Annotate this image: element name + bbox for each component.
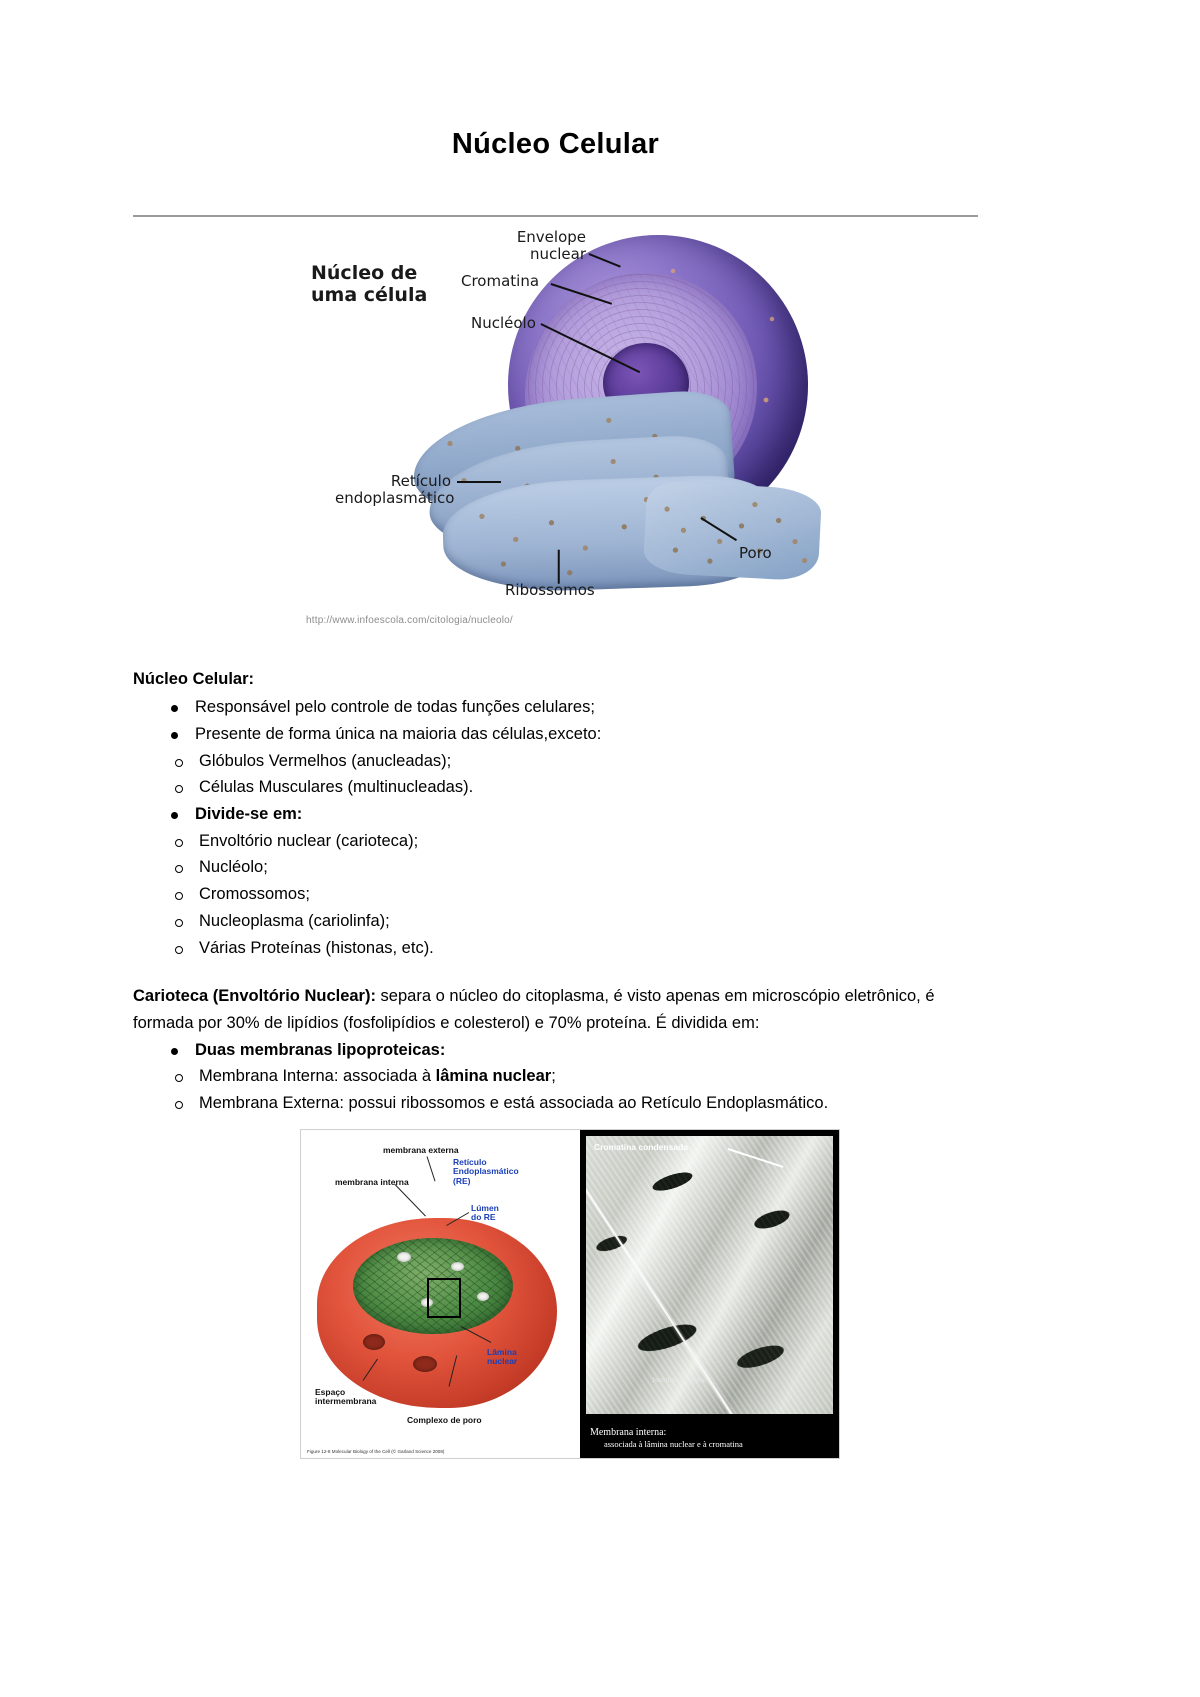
figure2-leader-membrana-externa [427,1156,436,1181]
list-item-duas-membranas: Duas membranas lipoproteicas: [195,1037,978,1064]
figure1-leader-reticulo [457,481,501,483]
list-item: Nucléolo; [199,854,978,881]
sublist-membranas: Membrana Interna: associada à lâmina nuc… [133,1063,978,1116]
micrograph-label-intestino: Intestino de anfíbio [652,1376,706,1384]
er-flap [643,481,823,582]
figure2-label-reticulo-endoplasmatico: Retículo Endoplasmático (RE) [453,1158,519,1187]
figure2-diagram-panel: membrana externa membrana interna Retícu… [301,1130,580,1458]
list-item: Nucleoplasma (cariolinfa); [199,908,978,935]
figure2-label-membrana-externa: membrana externa [383,1146,459,1156]
bullet-list-nucleo: Responsável pelo controle de todas funçõ… [133,694,978,747]
figure2-source-note: Figure 12-8 Molecular Biology of the Cel… [307,1449,444,1454]
ribosome-dots-4 [643,481,823,582]
figure1-leader-ribossomos [558,550,560,584]
figure2-label-lumen-do-re: Lúmen do RE [471,1204,499,1223]
micrograph-caption-line2: associada à lâmina nuclear e à cromatina [590,1439,743,1450]
pore-hole-1 [397,1252,411,1262]
document-page: Núcleo Celular Núcleo de uma célula [0,0,1200,1697]
pore-hole-4 [477,1292,489,1301]
figure2-label-complexo-de-poro: Complexo de poro [407,1416,482,1426]
list-item-divide-se-em: Divide-se em: [195,801,978,828]
membrana-interna-suffix: ; [551,1067,556,1085]
title-divider [133,215,978,217]
section-heading-nucleo-celular: Núcleo Celular: [133,667,978,692]
list-item: Presente de forma única na maioria das c… [195,721,978,748]
membrane-opening-2 [413,1356,437,1372]
list-item: Células Musculares (multinucleadas). [199,774,978,801]
figure2-micrograph-panel: Cromatina condensada Intestino de anfíbi… [580,1130,839,1458]
bullet-duas-membranas: Duas membranas lipoproteicas: [133,1037,978,1064]
list-item: Cromossomos; [199,881,978,908]
figure1-label-reticulo: Retículo endoplasmático [335,473,451,505]
bullet-divide-se-em: Divide-se em: [133,801,978,828]
zoom-region-box [427,1278,461,1318]
list-item: Glóbulos Vermelhos (anucleadas); [199,748,978,775]
micrograph-caption-line1: Membrana interna: [590,1427,743,1440]
figure1-label-poro: Poro [739,545,772,561]
figure-nucleo-celular: Núcleo de uma célula Envelope nuclear Cr… [133,227,978,667]
figure1-label-nucleolo: Nucléolo [471,315,536,331]
page-title: Núcleo Celular [133,0,978,161]
micrograph-label-cromatina-condensada: Cromatina condensada [594,1142,688,1152]
figure1-label-cromatina: Cromatina [461,273,539,289]
pore-hole-2 [451,1262,464,1271]
list-item: Envoltório nuclear (carioteca); [199,828,978,855]
figure1-label-ribossomos: Ribossomos [505,582,595,598]
spacer [133,961,978,983]
figure1-credit: http://www.infoescola.com/citologia/nucl… [306,615,513,626]
lamina-nuclear-bold: lâmina nuclear [436,1067,552,1085]
figure1-canvas: Núcleo de uma célula Envelope nuclear Cr… [293,227,833,642]
membrane-opening-1 [363,1334,385,1350]
figure1-main-label: Núcleo de uma célula [311,263,427,306]
sublist-componentes: Envoltório nuclear (carioteca); Nucléolo… [133,828,978,962]
list-item: Responsável pelo controle de todas funçõ… [195,694,978,721]
figure2-label-lamina-nuclear: Lâmina nuclear [487,1348,517,1367]
paragraph-carioteca-term: Carioteca (Envoltório Nuclear): [133,987,376,1005]
micrograph-image [586,1136,833,1414]
list-item: Várias Proteínas (histonas, etc). [199,935,978,962]
membrana-externa-text: Membrana Externa: possui ribossomos e es… [199,1094,828,1112]
paragraph-carioteca: Carioteca (Envoltório Nuclear): separa o… [133,983,978,1036]
micrograph-caption: Membrana interna: associada à lâmina nuc… [590,1427,743,1450]
membrana-interna-prefix: Membrana Interna: associada à [199,1067,436,1085]
figure-envoltorio-nuclear: membrana externa membrana interna Retícu… [300,1129,840,1459]
figure1-label-envelope-nuclear: Envelope nuclear [498,229,586,261]
document-content: Núcleo Celular Núcleo de uma célula [133,0,978,1459]
list-item-membrana-externa: Membrana Externa: possui ribossomos e es… [199,1090,978,1117]
list-item-membrana-interna: Membrana Interna: associada à lâmina nuc… [199,1063,978,1090]
sublist-excecoes: Glóbulos Vermelhos (anucleadas); Células… [133,748,978,801]
figure2-leader-membrana-interna [395,1184,426,1216]
figure2-label-espaco-intermembrana: Espaço intermembrana [315,1388,376,1407]
